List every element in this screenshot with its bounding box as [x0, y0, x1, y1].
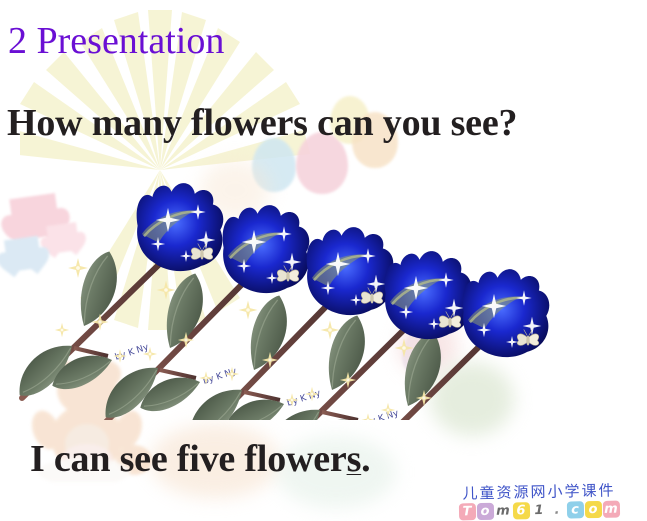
watermark-char-3: 6	[512, 502, 529, 519]
watermark-char-1: o	[476, 503, 493, 520]
section-title: 2 Presentation	[8, 22, 224, 60]
watermark-char-0: T	[458, 503, 475, 520]
watermark-char-2: m	[494, 502, 511, 519]
answer-prefix: I can see five flower	[30, 438, 347, 480]
bouquet-svg: by K Ny by K Ny by K Ny by K Ny by K Ny	[0, 160, 647, 420]
answer-underlined-letter: s	[347, 438, 362, 480]
answer-period: .	[361, 438, 370, 480]
rose-bloom-1	[137, 183, 224, 271]
watermark-char-6: c	[566, 501, 583, 518]
rose-bloom-3	[307, 227, 394, 315]
slide-canvas: by K Ny by K Ny by K Ny by K Ny by K Ny	[0, 0, 647, 521]
watermark-char-5: .	[548, 502, 565, 519]
rose-bloom-2	[223, 205, 310, 293]
watermark-char-8: m	[602, 501, 619, 518]
blue-roses-bouquet: by K Ny by K Ny by K Ny by K Ny by K Ny	[0, 160, 647, 420]
answer-text: I can see five flowers.	[30, 440, 370, 478]
watermark-domain: Tom61.com	[439, 500, 639, 520]
tom61-watermark: 儿童资源网小学课件 Tom61.com	[439, 484, 639, 519]
rose-bloom-4	[385, 251, 472, 339]
question-text: How many flowers can you see?	[7, 104, 517, 142]
watermark-char-7: o	[584, 501, 601, 518]
rose-bloom-5	[463, 269, 550, 357]
watermark-char-4: 1	[530, 502, 547, 519]
